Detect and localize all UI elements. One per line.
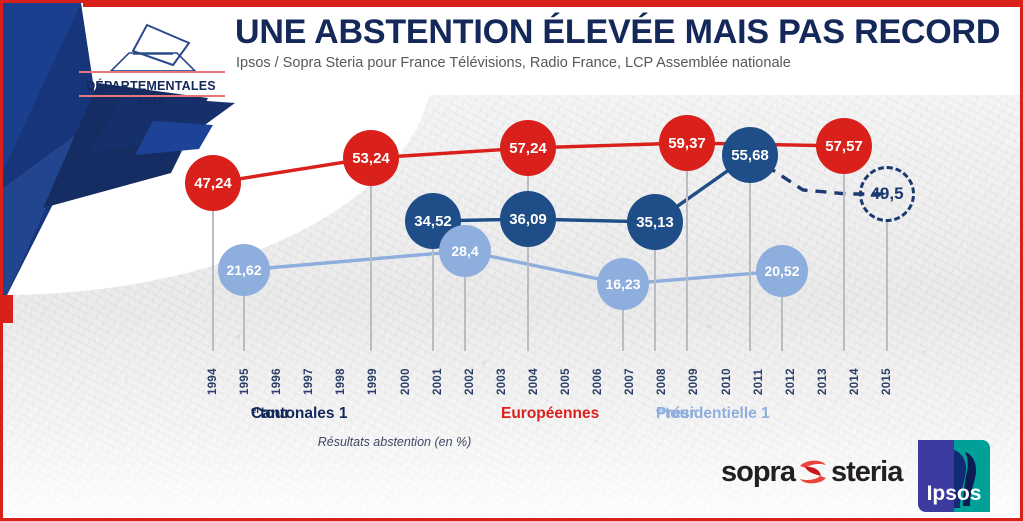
axis-year-1994: 1994 — [207, 353, 219, 395]
axis-year-2011: 2011 — [753, 353, 765, 395]
departementales-logo: DÉPARTEMENTALES 2015 — [71, 21, 231, 99]
axis-year-2004: 2004 — [528, 353, 540, 395]
logo-rule-top — [79, 71, 225, 73]
legend-note-wrap: Résultats abstention (en %) — [3, 435, 1023, 449]
page-title: UNE ABSTENTION ÉLEVÉE MAIS PAS RECORD — [235, 15, 1000, 49]
ipsos-face-logo-icon: Ipsos — [916, 438, 992, 514]
sopra-steria-logo: sopra steria — [721, 455, 902, 489]
legend-cantonales-tail: tour — [260, 405, 290, 423]
infographic-root: DÉPARTEMENTALES 2015 UNE ABSTENTION ÉLEV… — [0, 0, 1023, 521]
axis-year-2009: 2009 — [688, 353, 700, 395]
axis-year-2006: 2006 — [592, 353, 604, 395]
ipsos-wordmark: Ipsos — [927, 482, 982, 505]
axis-year-2003: 2003 — [496, 353, 508, 395]
axis-year-1999: 1999 — [367, 353, 379, 395]
sopra-steria-swirl-icon — [796, 457, 830, 487]
axis-year-1997: 1997 — [303, 353, 315, 395]
legend-item-cantonales: Cantonales 1er tour — [251, 405, 260, 424]
axis-year-2015: 2015 — [881, 353, 893, 395]
axis-year-1995: 1995 — [239, 353, 251, 395]
axis-year-2010: 2010 — [721, 353, 733, 395]
legend-presidentielle-tail: tour — [665, 405, 695, 423]
axis-year-2005: 2005 — [560, 353, 572, 395]
sopra-word: sopra — [721, 456, 795, 489]
x-axis-year-labels: 1994199519961997199819992000200120022003… — [3, 95, 1023, 395]
axis-year-2007: 2007 — [624, 353, 636, 395]
axis-year-2002: 2002 — [464, 353, 476, 395]
legend-item-europeennes: Européennes — [501, 405, 599, 423]
axis-year-2008: 2008 — [656, 353, 668, 395]
axis-year-2014: 2014 — [849, 353, 861, 395]
axis-year-2013: 2013 — [817, 353, 829, 395]
legend-note: Résultats abstention (en %) — [318, 435, 472, 449]
page-subtitle: Ipsos / Sopra Steria pour France Télévis… — [236, 55, 791, 71]
axis-year-2000: 2000 — [400, 353, 412, 395]
steria-word: steria — [831, 456, 902, 489]
axis-year-2001: 2001 — [432, 353, 444, 395]
axis-year-1996: 1996 — [271, 353, 283, 395]
axis-year-2012: 2012 — [785, 353, 797, 395]
axis-year-1998: 1998 — [335, 353, 347, 395]
legend-item-presidentielle: Présidentielle 1er tour — [656, 405, 665, 424]
chart-legend: Cantonales 1er tour Européennes Présiden… — [3, 405, 1023, 431]
ballot-box-icon — [89, 21, 215, 77]
